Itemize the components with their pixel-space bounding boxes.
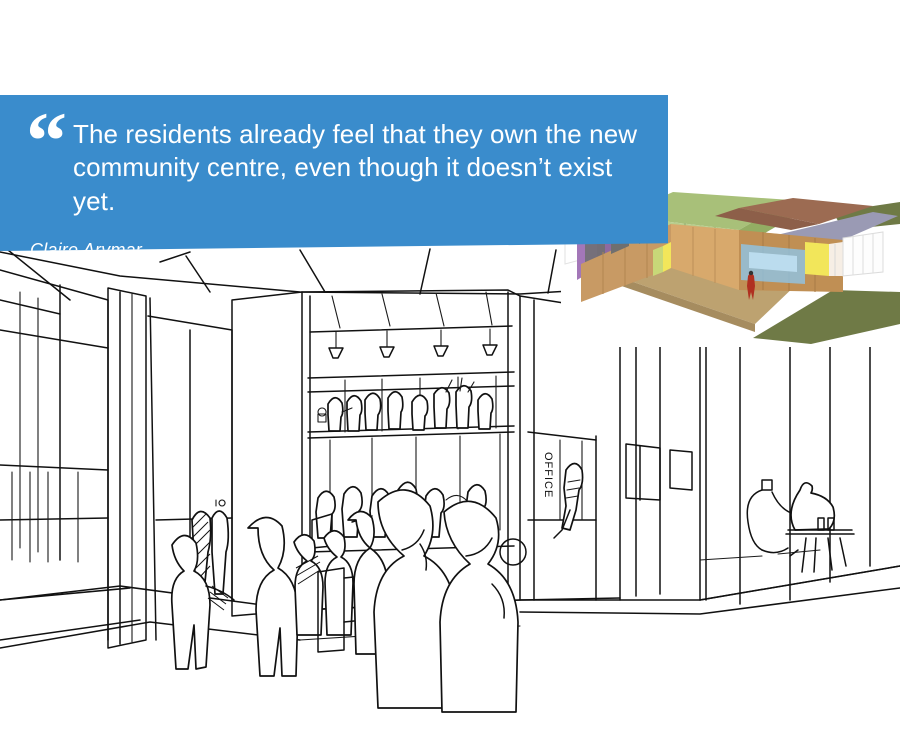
opening-quotation-mark: “	[26, 116, 63, 167]
quote-panel: “ The residents already feel that they o…	[0, 95, 668, 251]
sketch-left-wall	[0, 270, 140, 640]
sketch-central-panel	[232, 292, 302, 616]
sketch-seated-figure-right	[747, 480, 854, 572]
sketch-mezzanine-figures	[318, 378, 493, 431]
sketch-left-column	[108, 288, 146, 648]
svg-text:OFFICE: OFFICE	[542, 452, 554, 498]
sketch-office-sign: OFFICE	[542, 452, 554, 498]
poster-canvas: OFFICE	[0, 0, 900, 750]
sketch-pendant-lights	[310, 292, 512, 358]
sketch-right-wall	[620, 320, 900, 604]
sketch-figure-office	[554, 464, 583, 539]
quote-text: The residents already feel that they own…	[73, 118, 642, 218]
model-screen-wall	[843, 232, 883, 276]
